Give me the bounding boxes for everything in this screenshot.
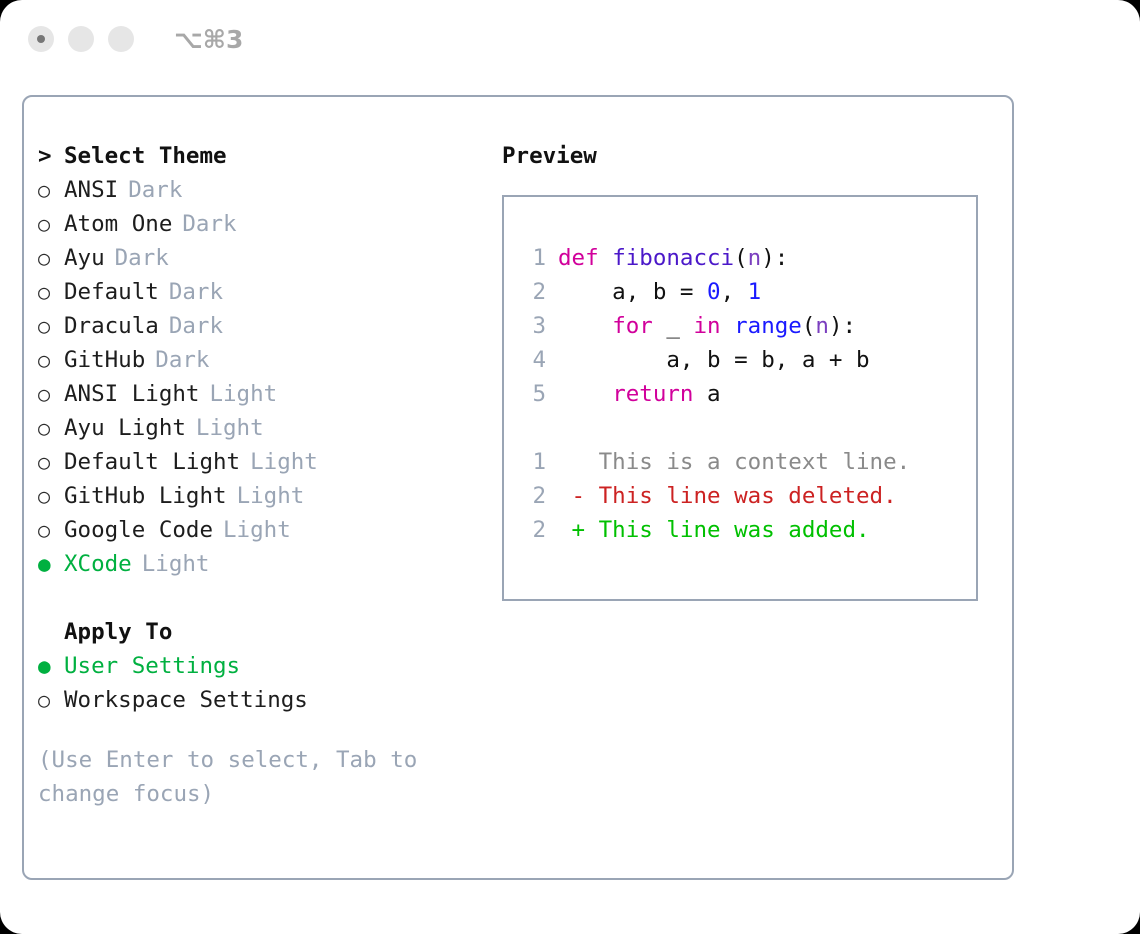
theme-variant-badge: Light — [223, 517, 291, 543]
code-text: for _ in range(n): — [558, 309, 856, 343]
window-dot-third[interactable] — [108, 26, 134, 52]
theme-name: Default Light — [64, 449, 240, 475]
radio-unselected-icon: ○ — [38, 246, 64, 270]
code-token: n — [815, 313, 829, 339]
theme-list-item[interactable]: ○GitHub LightLight — [38, 479, 488, 513]
code-token: return — [612, 381, 693, 407]
radio-unselected-icon: ○ — [38, 178, 64, 202]
code-text: a, b = b, a + b — [558, 343, 870, 377]
code-token: _ — [653, 313, 694, 339]
code-token: 0 — [707, 279, 721, 305]
code-line: 2 a, b = 0, 1 — [520, 275, 910, 309]
theme-name: Ayu Light — [64, 415, 186, 441]
theme-list: ○ANSIDark○Atom OneDark○AyuDark○DefaultDa… — [38, 173, 488, 581]
line-number: 1 — [520, 445, 546, 479]
code-token — [721, 313, 735, 339]
code-token: in — [693, 313, 720, 339]
theme-picker-column: > Select Theme ○ANSIDark○Atom OneDark○Ay… — [38, 139, 488, 811]
preview-title: Preview — [502, 139, 1002, 173]
code-token: def — [558, 245, 599, 271]
code-token: a, b = b, a + b — [558, 347, 870, 373]
window-dot-active-inner — [37, 35, 45, 43]
radio-unselected-icon: ○ — [38, 450, 64, 474]
theme-variant-badge: Light — [142, 551, 210, 577]
caret-icon: > — [38, 143, 64, 169]
theme-name: GitHub Light — [64, 483, 227, 509]
line-number: 4 — [520, 343, 546, 377]
code-token: ): — [829, 313, 856, 339]
code-token: , — [721, 279, 748, 305]
radio-unselected-icon: ○ — [38, 382, 64, 406]
theme-list-item[interactable]: ○ANSI LightLight — [38, 377, 488, 411]
apply-to-label: Workspace Settings — [64, 687, 308, 713]
preview-column: Preview 1def fibonacci(n):2 a, b = 0, 13… — [502, 139, 1002, 601]
line-number: 3 — [520, 309, 546, 343]
line-number: 5 — [520, 377, 546, 411]
theme-variant-badge: Light — [209, 381, 277, 407]
diff-line: 1 This is a context line. — [520, 445, 910, 479]
theme-name: Google Code — [64, 517, 213, 543]
apply-to-list: ●User Settings○Workspace Settings — [38, 649, 488, 717]
apply-to-header: Apply To — [38, 615, 488, 649]
theme-list-item[interactable]: ○AyuDark — [38, 241, 488, 275]
line-number: 2 — [520, 479, 546, 513]
line-number: 1 — [520, 241, 546, 275]
theme-list-item[interactable]: ○GitHubDark — [38, 343, 488, 377]
code-token: ): — [761, 245, 788, 271]
radio-unselected-icon: ○ — [38, 688, 64, 712]
list-spacer — [38, 581, 488, 615]
code-gap — [520, 411, 910, 445]
theme-name: Atom One — [64, 211, 172, 237]
code-text: - This line was deleted. — [558, 479, 897, 513]
radio-unselected-icon: ○ — [38, 212, 64, 236]
code-token: for — [612, 313, 653, 339]
theme-variant-badge: Light — [196, 415, 264, 441]
theme-variant-badge: Dark — [128, 177, 182, 203]
code-token: + This line was added. — [558, 517, 870, 543]
select-theme-title: Select Theme — [64, 143, 227, 169]
code-token: range — [734, 313, 802, 339]
code-text: This is a context line. — [558, 445, 910, 479]
code-text: a, b = 0, 1 — [558, 275, 761, 309]
theme-list-item[interactable]: ○DraculaDark — [38, 309, 488, 343]
apply-to-item[interactable]: ●User Settings — [38, 649, 488, 683]
theme-variant-badge: Dark — [155, 347, 209, 373]
radio-selected-icon: ● — [38, 654, 64, 678]
theme-variant-badge: Dark — [169, 279, 223, 305]
radio-selected-icon: ● — [38, 552, 64, 576]
main-panel: > Select Theme ○ANSIDark○Atom OneDark○Ay… — [22, 95, 1014, 880]
code-token: n — [748, 245, 762, 271]
diff-line: 2 + This line was added. — [520, 513, 910, 547]
radio-unselected-icon: ○ — [38, 280, 64, 304]
apply-to-title: Apply To — [64, 619, 172, 645]
theme-name: Ayu — [64, 245, 105, 271]
theme-name: GitHub — [64, 347, 145, 373]
code-text: return a — [558, 377, 721, 411]
theme-list-item[interactable]: ○Google CodeLight — [38, 513, 488, 547]
radio-unselected-icon: ○ — [38, 518, 64, 542]
code-text: + This line was added. — [558, 513, 870, 547]
radio-unselected-icon: ○ — [38, 314, 64, 338]
theme-name: Default — [64, 279, 159, 305]
preview-box: 1def fibonacci(n):2 a, b = 0, 13 for _ i… — [502, 195, 978, 601]
app-window: ⌥⌘3 > Select Theme ○ANSIDark○Atom OneDar… — [0, 0, 1140, 934]
theme-list-item[interactable]: ○Default LightLight — [38, 445, 488, 479]
diff-line: 2 - This line was deleted. — [520, 479, 910, 513]
code-token: This is a context line. — [558, 449, 910, 475]
code-token — [599, 245, 613, 271]
window-dot-active[interactable] — [28, 26, 54, 52]
code-line: 4 a, b = b, a + b — [520, 343, 910, 377]
theme-name: Dracula — [64, 313, 159, 339]
theme-list-item[interactable]: ○Ayu LightLight — [38, 411, 488, 445]
keyboard-hint-text: (Use Enter to select, Tab to change focu… — [38, 743, 438, 811]
theme-list-item[interactable]: ○DefaultDark — [38, 275, 488, 309]
code-token: a, b = — [558, 279, 707, 305]
radio-unselected-icon: ○ — [38, 416, 64, 440]
theme-variant-badge: Light — [237, 483, 305, 509]
code-token: fibonacci — [612, 245, 734, 271]
line-number: 2 — [520, 513, 546, 547]
radio-unselected-icon: ○ — [38, 348, 64, 372]
code-line: 3 for _ in range(n): — [520, 309, 910, 343]
keyboard-shortcut-label: ⌥⌘3 — [174, 25, 243, 54]
theme-list-item[interactable]: ●XCodeLight — [38, 547, 488, 581]
code-line: 1def fibonacci(n): — [520, 241, 910, 275]
apply-to-item[interactable]: ○Workspace Settings — [38, 683, 488, 717]
code-token: - This line was deleted. — [558, 483, 897, 509]
code-token: ( — [734, 245, 748, 271]
code-preview: 1def fibonacci(n):2 a, b = 0, 13 for _ i… — [520, 241, 910, 547]
code-token: ( — [802, 313, 816, 339]
theme-variant-badge: Light — [250, 449, 318, 475]
code-token — [558, 381, 612, 407]
code-token: 1 — [748, 279, 762, 305]
theme-variant-badge: Dark — [182, 211, 236, 237]
radio-unselected-icon: ○ — [38, 484, 64, 508]
code-token — [558, 313, 612, 339]
theme-name: XCode — [64, 551, 132, 577]
code-token: a — [693, 381, 720, 407]
theme-name: ANSI — [64, 177, 118, 203]
select-theme-header: > Select Theme — [38, 139, 488, 173]
theme-variant-badge: Dark — [115, 245, 169, 271]
theme-variant-badge: Dark — [169, 313, 223, 339]
apply-to-label: User Settings — [64, 653, 240, 679]
line-number: 2 — [520, 275, 546, 309]
theme-name: ANSI Light — [64, 381, 199, 407]
theme-list-item[interactable]: ○Atom OneDark — [38, 207, 488, 241]
code-line: 5 return a — [520, 377, 910, 411]
title-bar: ⌥⌘3 — [0, 0, 1140, 78]
window-dot-second[interactable] — [68, 26, 94, 52]
code-text: def fibonacci(n): — [558, 241, 788, 275]
theme-list-item[interactable]: ○ANSIDark — [38, 173, 488, 207]
